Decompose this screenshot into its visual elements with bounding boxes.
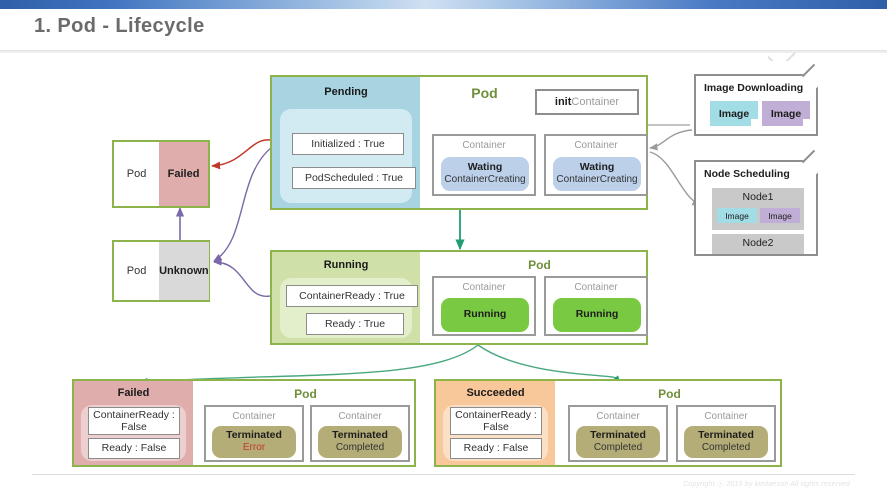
container-title: Container [312, 411, 408, 422]
container-title: Container [206, 411, 302, 422]
init-container-box[interactable]: initContainer [535, 89, 639, 115]
chip-fold-icon [751, 119, 758, 126]
page-title: 1. Pod - Lifecycle [34, 15, 205, 38]
container-reason-text: Completed [336, 442, 384, 455]
container-title: Container [434, 282, 534, 293]
container-reason-text: Error [243, 442, 265, 455]
arrow-running-to-failed [140, 345, 478, 382]
status-box-pod-label: Pod [114, 142, 159, 206]
pending-condition-podscheduled: PodScheduled : True [292, 167, 416, 189]
running-condition-ready: Ready : True [306, 313, 404, 335]
pending-container-2[interactable]: Container Wating ContainerCreating [544, 134, 648, 196]
pending-phase-name: Pending [272, 86, 420, 98]
status-box-pod-failed[interactable]: Pod Failed [112, 140, 210, 208]
node-image-chip-cyan: Image [717, 208, 757, 223]
failed-container-2[interactable]: Container Terminated Completed [310, 405, 410, 462]
container-title: Container [570, 411, 666, 422]
succeeded-container-2[interactable]: Container Terminated Completed [676, 405, 776, 462]
succeeded-condition-ready: Ready : False [450, 438, 542, 459]
arrow-running-to-pod-unknown [214, 262, 270, 296]
status-box-state-label: Unknown [159, 242, 209, 300]
arrow-running-to-succeeded [478, 345, 616, 381]
container-state-chip: Terminated Completed [684, 426, 768, 458]
note-title: Image Downloading [704, 82, 803, 94]
status-box-state-label: Failed [159, 142, 208, 206]
running-container-2[interactable]: Container Running [544, 276, 648, 336]
container-state-text: Terminated [698, 429, 754, 442]
node-image-chip-label: Image [768, 211, 792, 221]
failed-phase-name: Failed [74, 387, 193, 399]
header-notch-icon [768, 50, 798, 61]
note-title: Node Scheduling [704, 168, 790, 180]
container-title: Container [678, 411, 774, 422]
succeeded-phase-name: Succeeded [436, 387, 555, 399]
node-row-node1[interactable]: Node1 Image Image [712, 188, 804, 230]
container-reason-text: ContainerCreating [444, 174, 525, 187]
header-divider [0, 50, 887, 53]
container-state-chip: Wating ContainerCreating [441, 157, 529, 191]
container-title: Container [546, 140, 646, 151]
failed-condition-containerready: ContainerReady : False [88, 407, 180, 435]
note-node-scheduling[interactable]: Node Scheduling Node1 Image Image Node2 [694, 160, 818, 256]
footer-copyright: Copyright ⓒ 2019 by kimtaeson All rights… [683, 479, 850, 489]
node-row-node2[interactable]: Node2 [712, 234, 804, 254]
arrow-pending-to-node-scheduling [650, 152, 700, 205]
container-reason-text: ContainerCreating [556, 174, 637, 187]
top-accent-bar [0, 0, 887, 9]
failed-container-1[interactable]: Container Terminated Error [204, 405, 304, 462]
container-state-text: Running [464, 308, 507, 321]
note-image-downloading[interactable]: Image Downloading Image Image [694, 74, 818, 136]
container-state-chip: Terminated Completed [318, 426, 402, 458]
phase-failed[interactable]: Failed ContainerReady : False Ready : Fa… [72, 379, 416, 467]
container-reason-text: Completed [702, 442, 750, 455]
init-container-bold-text: init [555, 96, 572, 108]
note-fold-corner-icon [802, 150, 827, 175]
running-container-1[interactable]: Container Running [432, 276, 536, 336]
image-chip-label: Image [719, 108, 749, 120]
container-state-chip: Terminated Error [212, 426, 296, 458]
phase-succeeded[interactable]: Succeeded ContainerReady : False Ready :… [434, 379, 782, 467]
pending-pod-label: Pod [432, 85, 537, 101]
container-state-text: Running [576, 308, 619, 321]
container-state-text: Terminated [590, 429, 646, 442]
footer-divider [32, 474, 855, 475]
container-title: Container [546, 282, 646, 293]
failed-pod-label: Pod [197, 387, 414, 401]
image-chip-cyan: Image [710, 101, 758, 126]
succeeded-pod-label: Pod [559, 387, 780, 401]
arrow-pending-to-pod-unknown [214, 147, 272, 261]
container-state-text: Wating [580, 161, 615, 174]
status-box-pod-label: Pod [114, 242, 159, 300]
image-chip-purple: Image [762, 101, 810, 126]
init-container-rest-text: Container [571, 96, 619, 108]
running-phase-name: Running [272, 259, 420, 271]
pending-condition-initialized: Initialized : True [292, 133, 404, 155]
pending-container-1[interactable]: Container Wating ContainerCreating [432, 134, 536, 196]
running-pod-label: Pod [432, 258, 647, 272]
container-state-chip: Running [553, 298, 641, 332]
node-image-chip-purple: Image [760, 208, 800, 223]
node-image-chip-label: Image [725, 211, 749, 221]
arrow-image-downloading-to-pending [650, 130, 692, 148]
container-state-chip: Running [441, 298, 529, 332]
succeeded-container-1[interactable]: Container Terminated Completed [568, 405, 668, 462]
failed-condition-ready: Ready : False [88, 438, 180, 459]
container-reason-text: Completed [594, 442, 642, 455]
phase-running[interactable]: Running ContainerReady : True Ready : Tr… [270, 250, 648, 345]
container-state-text: Terminated [332, 429, 388, 442]
node-name-label: Node1 [743, 191, 774, 203]
running-condition-containerready: ContainerReady : True [286, 285, 418, 307]
arrow-pending-to-pod-failed [212, 140, 270, 166]
chip-fold-icon [803, 119, 810, 126]
note-fold-corner-icon [802, 64, 827, 89]
container-title: Container [434, 140, 534, 151]
node-name-label: Node2 [743, 237, 774, 249]
status-box-pod-unknown[interactable]: Pod Unknown [112, 240, 210, 302]
succeeded-condition-containerready: ContainerReady : False [450, 407, 542, 435]
image-chip-label: Image [771, 108, 801, 120]
container-state-chip: Terminated Completed [576, 426, 660, 458]
container-state-text: Wating [468, 161, 503, 174]
container-state-chip: Wating ContainerCreating [553, 157, 641, 191]
phase-pending[interactable]: Pending Initialized : True PodScheduled … [270, 75, 648, 210]
container-state-text: Terminated [226, 429, 282, 442]
